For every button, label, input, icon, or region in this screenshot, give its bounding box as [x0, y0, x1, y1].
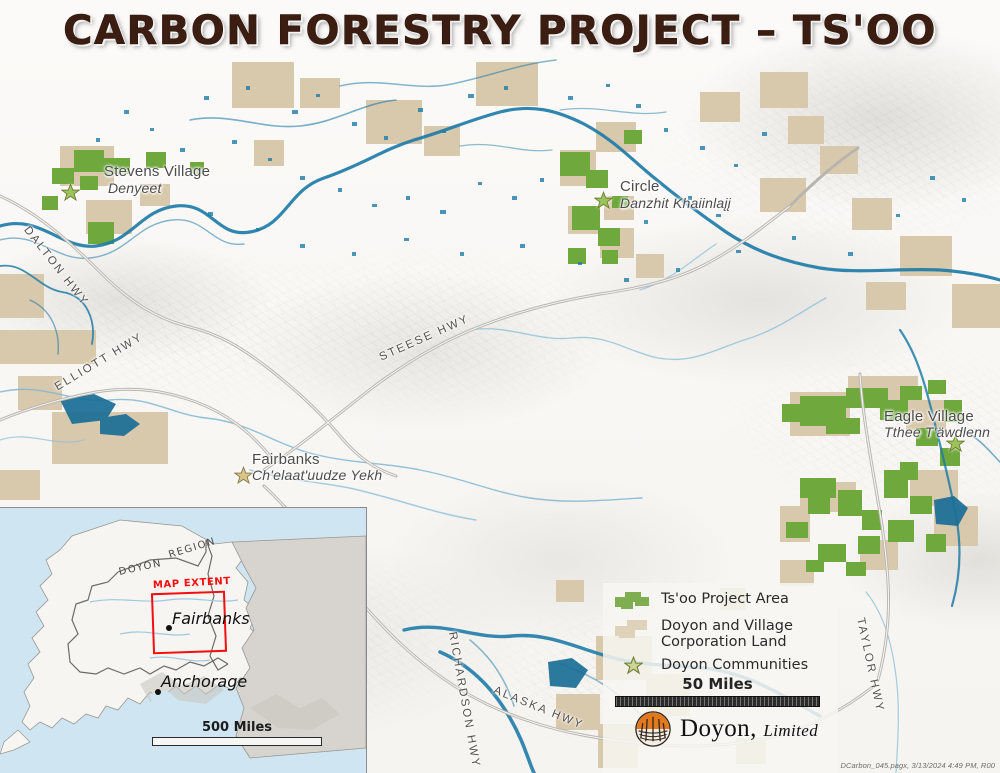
inset-scale-bar: 500 Miles [152, 720, 322, 746]
community-native-label-eagle-village: Tthee T'äwdlenn [884, 424, 990, 440]
map-poster: CARBON FORESTRY PROJECT – TS'OO Stevens … [0, 0, 1000, 773]
page-title: CARBON FORESTRY PROJECT – TS'OO [0, 8, 1000, 54]
inset-city-label-anchorage: Anchorage [161, 672, 247, 691]
community-label-eagle-village: Eagle Village [884, 408, 974, 425]
community-label-fairbanks: Fairbanks [252, 451, 320, 468]
community-native-label-fairbanks: Ch'elaat'uudze Yekh [252, 467, 382, 483]
star-icon [615, 655, 651, 675]
legend-label-corporation-land: Doyon and Village Corporation Land [661, 618, 793, 650]
legend-item-doyon-communities: Doyon Communities [615, 655, 837, 675]
doyon-community-star-icon [61, 183, 80, 202]
inset-scale-bar-graphic [152, 737, 322, 746]
legend-label-tsoo-project-area: Ts'oo Project Area [661, 591, 789, 607]
doyon-community-star-icon [234, 466, 253, 485]
green-parcel-swatch [615, 591, 651, 611]
logo-comma: , [750, 715, 757, 742]
legend-label-doyon-communities: Doyon Communities [661, 657, 808, 673]
inset-scale-bar-label: 500 Miles [152, 720, 322, 735]
doyon-basket-icon [635, 711, 671, 747]
inset-locator-map: MAP EXTENT DOYON REGION Fairbanks Anchor… [0, 507, 367, 773]
scale-bar-graphic [615, 696, 820, 707]
community-label-circle: Circle [620, 178, 660, 195]
doyon-limited-logo: Doyon, Limited [635, 711, 818, 747]
community-label-stevens-village: Stevens Village [104, 163, 210, 180]
doyon-community-star-icon [594, 191, 613, 210]
community-native-label-circle: Danzhit Khaiinlaįį [620, 195, 731, 211]
tan-parcel-swatch [615, 618, 651, 638]
legend-panel: Ts'oo Project Area Doyon and Village Cor… [603, 583, 838, 773]
scale-bar: 50 Miles [615, 675, 820, 707]
scale-bar-label: 50 Miles [615, 675, 820, 693]
logo-word-limited: Limited [763, 721, 818, 740]
map-credit-text: DCarbon_045.pagx, 3/13/2024 4:49 PM, R00 [840, 761, 995, 770]
inset-city-label-fairbanks: Fairbanks [172, 609, 250, 628]
logo-word-doyon: Doyon [680, 715, 750, 742]
lakes [96, 84, 966, 282]
legend-item-corporation-land: Doyon and Village Corporation Land [615, 618, 837, 650]
doyon-limited-wordmark: Doyon, Limited [680, 715, 818, 743]
community-native-label-stevens-village: Denyeet [108, 180, 162, 196]
legend-item-tsoo-project-area: Ts'oo Project Area [615, 591, 837, 611]
